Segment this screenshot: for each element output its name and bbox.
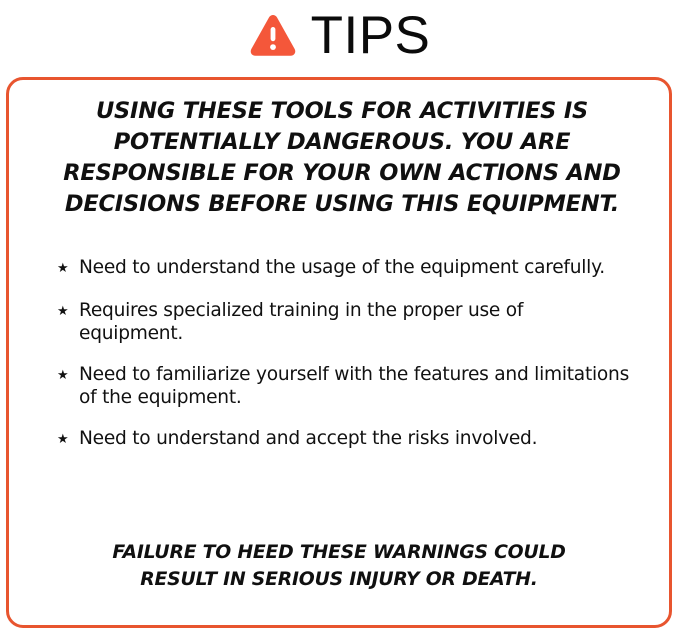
star-bullet-icon: ★ bbox=[57, 363, 79, 389]
lead-warning-text: USING THESE TOOLS FOR ACTIVITIES IS POTE… bbox=[53, 96, 631, 220]
footer-line-2: RESULT IN SERIOUS INJURY OR DEATH. bbox=[49, 566, 629, 593]
footer-line-1: FAILURE TO HEED THESE WARNINGS COULD bbox=[49, 539, 629, 566]
lead-line-4: DECISIONS BEFORE USING THIS EQUIPMENT. bbox=[57, 189, 627, 220]
warning-triangle-icon bbox=[249, 13, 297, 59]
list-item: ★ Need to familiarize yourself with the … bbox=[53, 363, 631, 410]
page-title: TIPS bbox=[311, 9, 431, 62]
tips-bullet-list: ★ Need to understand the usage of the eq… bbox=[53, 256, 631, 452]
star-bullet-icon: ★ bbox=[57, 427, 79, 453]
star-bullet-icon: ★ bbox=[57, 256, 79, 282]
lead-line-3: RESPONSIBLE FOR YOUR OWN ACTIONS AND bbox=[57, 158, 627, 189]
tips-poster: TIPS USING THESE TOOLS FOR ACTIVITIES IS… bbox=[0, 0, 679, 637]
list-item-label: Need to understand the usage of the equi… bbox=[79, 256, 631, 280]
tips-panel-content: USING THESE TOOLS FOR ACTIVITIES IS POTE… bbox=[9, 80, 669, 625]
star-bullet-icon: ★ bbox=[57, 299, 79, 325]
footer-warning-text: FAILURE TO HEED THESE WARNINGS COULD RES… bbox=[49, 539, 629, 594]
list-item-label: Requires specialized training in the pro… bbox=[79, 299, 631, 346]
list-item-label: Need to understand and accept the risks … bbox=[79, 427, 631, 451]
poster-header: TIPS bbox=[0, 0, 679, 70]
lead-line-2: POTENTIALLY DANGEROUS. YOU ARE bbox=[57, 127, 627, 158]
list-item-label: Need to familiarize yourself with the fe… bbox=[79, 363, 631, 410]
list-item: ★ Need to understand the usage of the eq… bbox=[53, 256, 631, 282]
list-item: ★ Requires specialized training in the p… bbox=[53, 299, 631, 346]
lead-line-1: USING THESE TOOLS FOR ACTIVITIES IS bbox=[57, 96, 627, 127]
list-item: ★ Need to understand and accept the risk… bbox=[53, 427, 631, 453]
tips-panel: USING THESE TOOLS FOR ACTIVITIES IS POTE… bbox=[6, 77, 672, 628]
